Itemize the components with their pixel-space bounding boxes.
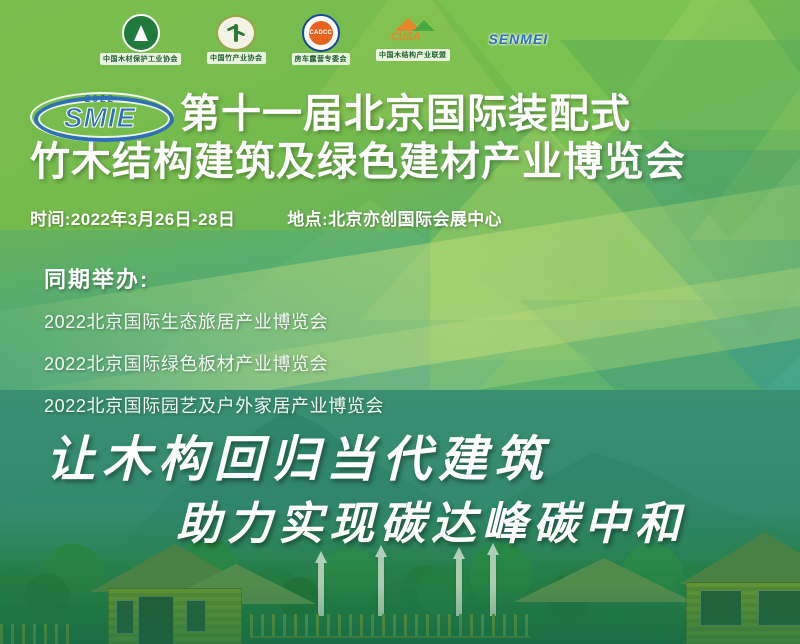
logo-caption: 中国木结构产业联盟 bbox=[376, 49, 450, 61]
logo-acronym: CUSA bbox=[391, 31, 420, 43]
event-venue: 地点:北京亦创国际会展中心 bbox=[287, 205, 502, 230]
smie-brand-logo: 2022 SMIE bbox=[30, 92, 170, 138]
event-meta: 时间:2022年3月26日-28日 地点:北京亦创国际会展中心 bbox=[30, 205, 502, 230]
logo-acronym: SENMEI bbox=[489, 31, 549, 47]
poster-content: 中国木材保护工业协会 中国竹产业协会 CADCC 房车露营专委会 bbox=[0, 0, 800, 644]
tree-circle-icon bbox=[122, 14, 160, 52]
logo-china-wood-protection-industry-association: 中国木材保护工业协会 bbox=[100, 14, 181, 65]
concurrent-event-item: 2022北京国际园艺及户外家居产业博览会 bbox=[44, 392, 384, 418]
logo-senmei: SENMEI bbox=[476, 31, 549, 47]
leaf-icon: SENMEI bbox=[476, 31, 549, 47]
house-icon: CUSA bbox=[389, 18, 437, 48]
logo-caption: 中国竹产业协会 bbox=[207, 52, 266, 64]
concurrent-events-heading: 同期举办: bbox=[44, 262, 384, 294]
sponsor-logo-row: 中国木材保护工业协会 中国竹产业协会 CADCC 房车露营专委会 bbox=[0, 8, 800, 70]
smie-acronym: SMIE bbox=[30, 102, 170, 134]
concurrent-event-item: 2022北京国际绿色板材产业博览会 bbox=[44, 350, 384, 376]
logo-caption: 房车露营专委会 bbox=[292, 53, 351, 65]
bamboo-oval-icon bbox=[216, 15, 256, 51]
page-title-line-1: 第十一届北京国际装配式 bbox=[180, 94, 631, 136]
cadcc-seal-icon: CADCC bbox=[302, 14, 340, 52]
logo-cadcc-rv-camping-committee: CADCC 房车露营专委会 bbox=[292, 14, 351, 65]
page-title-line-2: 竹木结构建筑及绿色建材产业博览会 bbox=[0, 142, 800, 184]
exhibition-poster: 中国木材保护工业协会 中国竹产业协会 CADCC 房车露营专委会 bbox=[0, 0, 800, 644]
title-block: 2022 SMIE 第十一届北京国际装配式 竹木结构建筑及绿色建材产业博览会 bbox=[0, 92, 800, 184]
logo-bamboo-industry-association: 中国竹产业协会 bbox=[207, 15, 266, 64]
event-date: 时间:2022年3月26日-28日 bbox=[30, 205, 235, 230]
concurrent-events-section: 同期举办: 2022北京国际生态旅居产业博览会 2022北京国际绿色板材产业博览… bbox=[44, 262, 384, 434]
slogan-line-1: 让木构回归当代建筑 bbox=[46, 420, 550, 491]
logo-caption: 中国木材保护工业协会 bbox=[100, 53, 181, 65]
slogan-line-2: 助力实现碳达峰碳中和 bbox=[176, 487, 686, 552]
logo-acronym: CADCC bbox=[309, 30, 332, 36]
logo-cusa-wood-structure-industry-alliance: CUSA 中国木结构产业联盟 bbox=[376, 18, 450, 61]
concurrent-event-item: 2022北京国际生态旅居产业博览会 bbox=[44, 308, 384, 334]
